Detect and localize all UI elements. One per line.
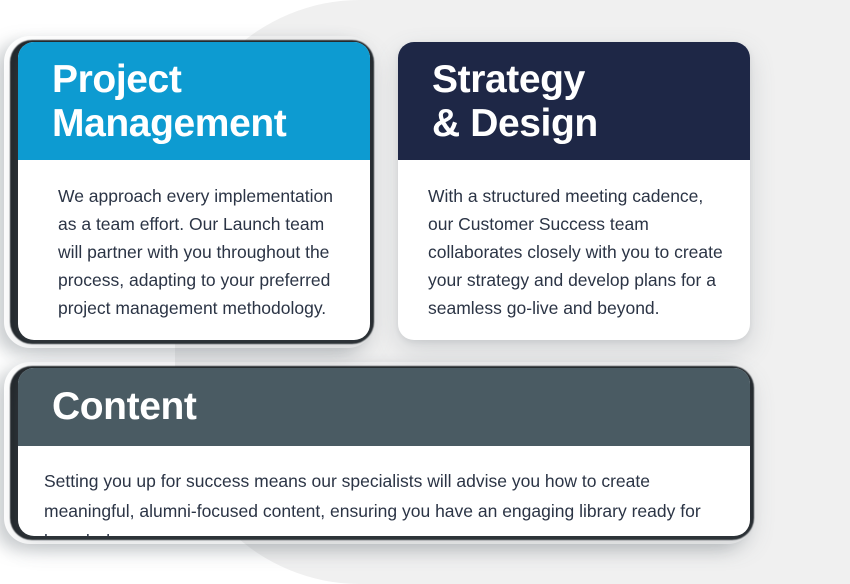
- card-strategy-design-title-line-2: & Design: [432, 102, 750, 146]
- card-content-body: Setting you up for success means our spe…: [18, 446, 750, 536]
- card-project-management-title-line-2: Management: [52, 102, 370, 146]
- card-strategy-design-header: Strategy & Design: [398, 42, 750, 160]
- infographic-canvas: Project Management We approach every imp…: [0, 0, 850, 584]
- card-strategy-design-body: With a structured meeting cadence, our C…: [398, 160, 750, 322]
- card-project-management-title-line-1: Project: [52, 58, 370, 102]
- card-strategy-design[interactable]: Strategy & Design With a structured meet…: [398, 42, 750, 340]
- card-project-management-body: We approach every implementation as a te…: [18, 160, 370, 322]
- card-project-management[interactable]: Project Management We approach every imp…: [18, 42, 370, 340]
- card-content-title-line-1: Content: [52, 382, 750, 432]
- card-content-header: Content: [18, 368, 750, 446]
- card-project-management-header: Project Management: [18, 42, 370, 160]
- card-strategy-design-title-line-1: Strategy: [432, 58, 750, 102]
- card-content[interactable]: Content Setting you up for success means…: [18, 368, 750, 536]
